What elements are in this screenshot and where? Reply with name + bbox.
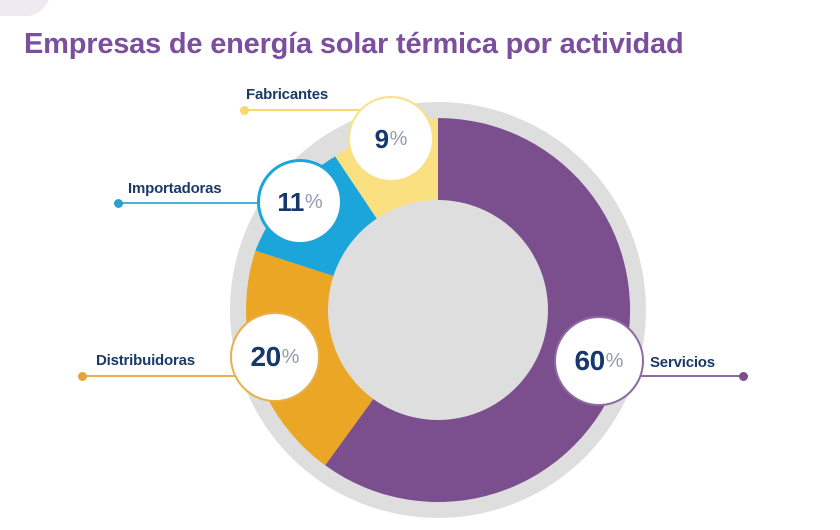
percent-sign-servicios: % xyxy=(606,351,624,371)
leader-line-servicios xyxy=(634,375,748,377)
value-importadoras: 11 xyxy=(277,189,304,215)
leader-dot-fabricantes xyxy=(240,106,249,115)
donut-chart-svg xyxy=(0,0,840,530)
donut-chart xyxy=(0,0,840,530)
percent-sign-importadoras: % xyxy=(305,192,323,212)
category-label-fabricantes: Fabricantes xyxy=(246,86,328,103)
leader-line-importadoras xyxy=(114,202,276,204)
percent-sign-distribuidoras: % xyxy=(282,347,300,367)
value-bubble-importadoras: 11 % xyxy=(257,159,343,245)
value-fabricantes: 9 xyxy=(375,126,389,152)
category-label-importadoras: Importadoras xyxy=(128,180,221,197)
value-bubble-fabricantes: 9 % xyxy=(348,96,434,182)
donut-center-hole xyxy=(328,200,548,420)
percent-sign-fabricantes: % xyxy=(390,129,408,149)
leader-dot-servicios xyxy=(739,372,748,381)
value-bubble-servicios: 60 % xyxy=(554,316,644,406)
category-label-servicios: Servicios xyxy=(650,354,715,371)
value-distribuidoras: 20 xyxy=(251,343,281,371)
leader-dot-importadoras xyxy=(114,199,123,208)
leader-dot-distribuidoras xyxy=(78,372,87,381)
value-bubble-distribuidoras: 20 % xyxy=(230,312,320,402)
value-servicios: 60 xyxy=(575,347,605,375)
category-label-distribuidoras: Distribuidoras xyxy=(96,352,195,369)
